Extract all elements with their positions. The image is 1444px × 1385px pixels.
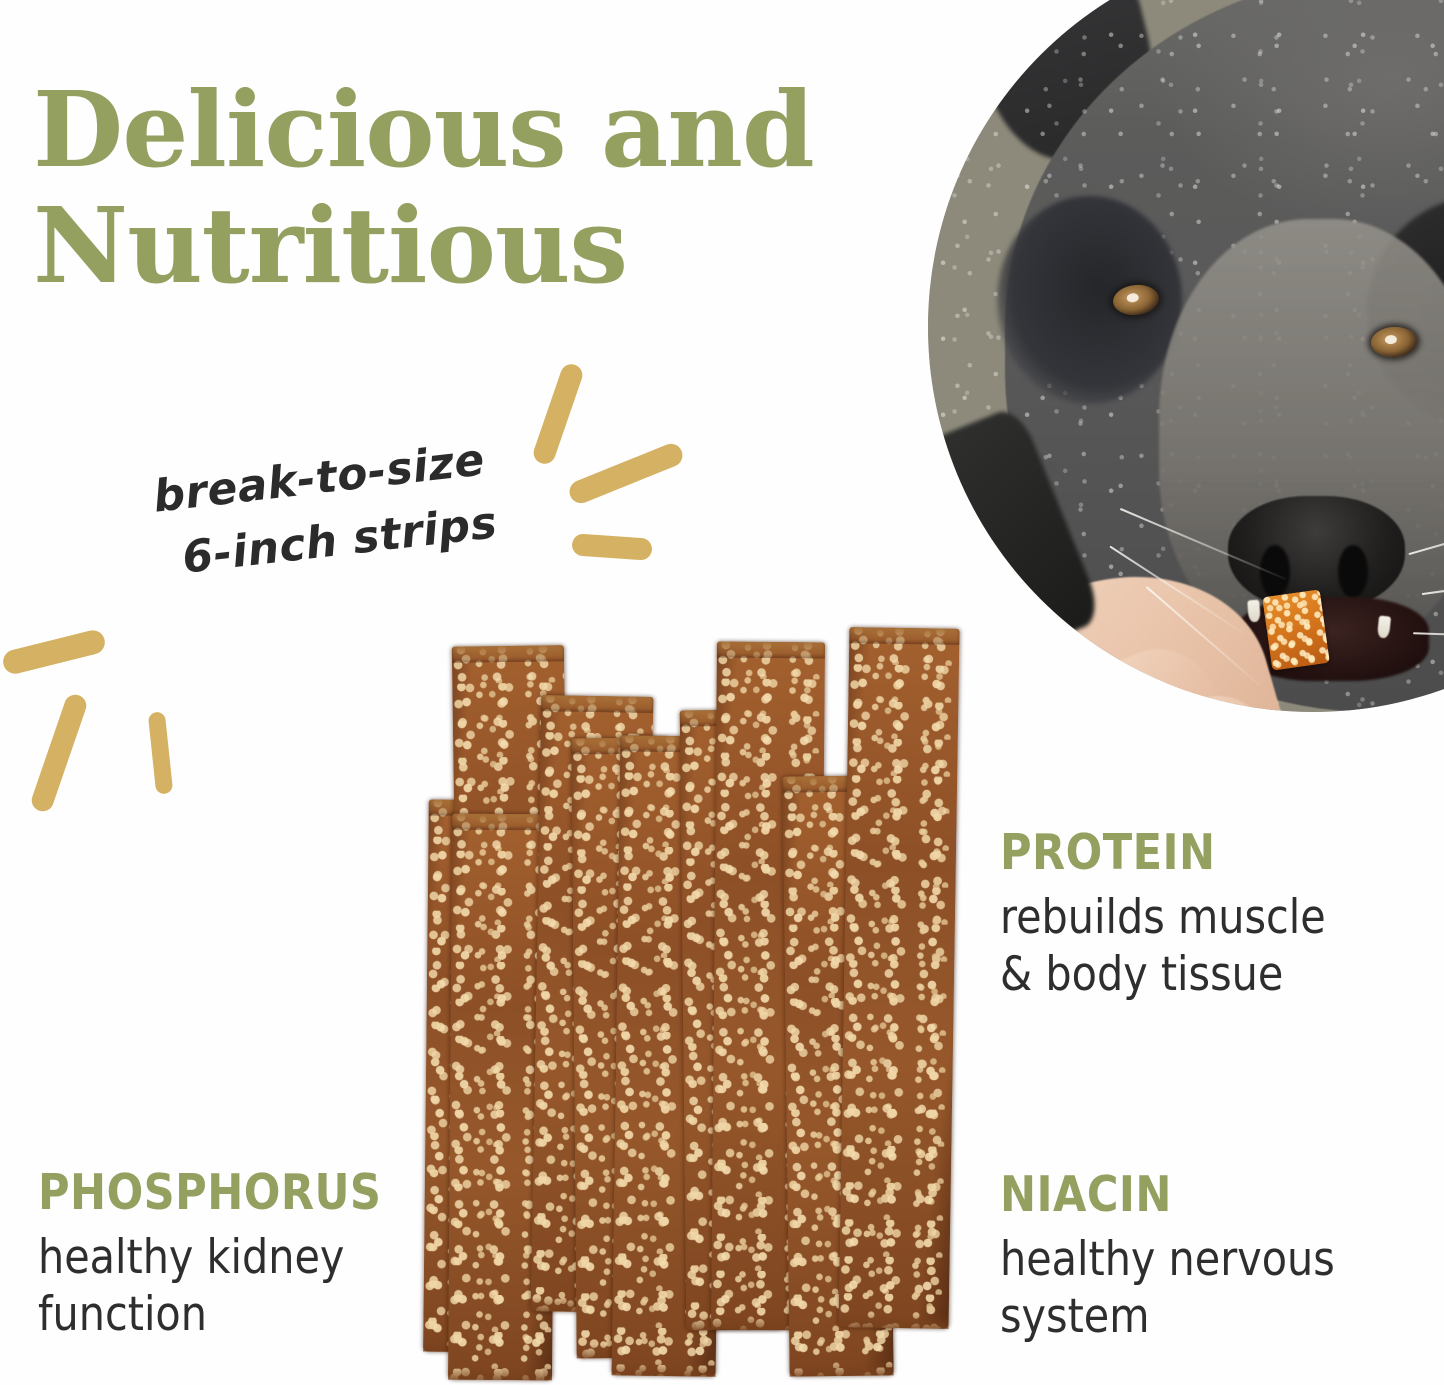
- benefit-line-2: & body tissue: [1000, 946, 1370, 1003]
- sparkle-stroke: [148, 711, 173, 794]
- nutrient-name-niacin: NIACIN: [1000, 1170, 1370, 1220]
- sparkle-stroke: [571, 533, 652, 561]
- callout-phosphorus: PHOSPHORUS healthy kidney function: [38, 1168, 458, 1344]
- sparkle-stroke: [29, 692, 90, 815]
- nutrient-benefit-niacin: healthy nervous system: [1000, 1231, 1370, 1346]
- callout-protein: PROTEIN rebuilds muscle & body tissue: [1000, 828, 1420, 1004]
- nutrient-name-protein: PROTEIN: [1000, 828, 1370, 878]
- benefit-line-2: system: [1000, 1288, 1370, 1345]
- jerky-strips-group: [408, 618, 988, 1378]
- dog-photo: [928, 0, 1444, 712]
- nutrient-name-phosphorus: PHOSPHORUS: [38, 1168, 408, 1218]
- nutrient-benefit-protein: rebuilds muscle & body tissue: [1000, 889, 1370, 1004]
- page-title: Delicious and Nutritious: [33, 72, 853, 305]
- benefit-line-1: rebuilds muscle: [1000, 889, 1370, 946]
- held-treat: [1262, 590, 1330, 671]
- nutrient-benefit-phosphorus: healthy kidney function: [38, 1229, 408, 1344]
- dog-photo-circle: [928, 0, 1444, 712]
- sparkle-stroke: [1, 628, 108, 676]
- benefit-line-1: healthy nervous: [1000, 1231, 1370, 1288]
- dog-nostril-right: [1338, 545, 1368, 598]
- callout-niacin: NIACIN healthy nervous system: [1000, 1170, 1420, 1346]
- headline-line-1: Delicious and: [33, 68, 814, 191]
- benefit-line-2: function: [38, 1286, 408, 1343]
- product-infographic: Delicious and Nutritious break-to-size 6…: [0, 0, 1444, 1385]
- jerky-strip: [839, 627, 960, 1329]
- benefit-line-1: healthy kidney: [38, 1229, 408, 1286]
- headline-line-2: Nutritious: [33, 188, 853, 304]
- sparkle-stroke: [566, 440, 686, 506]
- handwritten-note: break-to-size 6-inch strips: [150, 417, 592, 592]
